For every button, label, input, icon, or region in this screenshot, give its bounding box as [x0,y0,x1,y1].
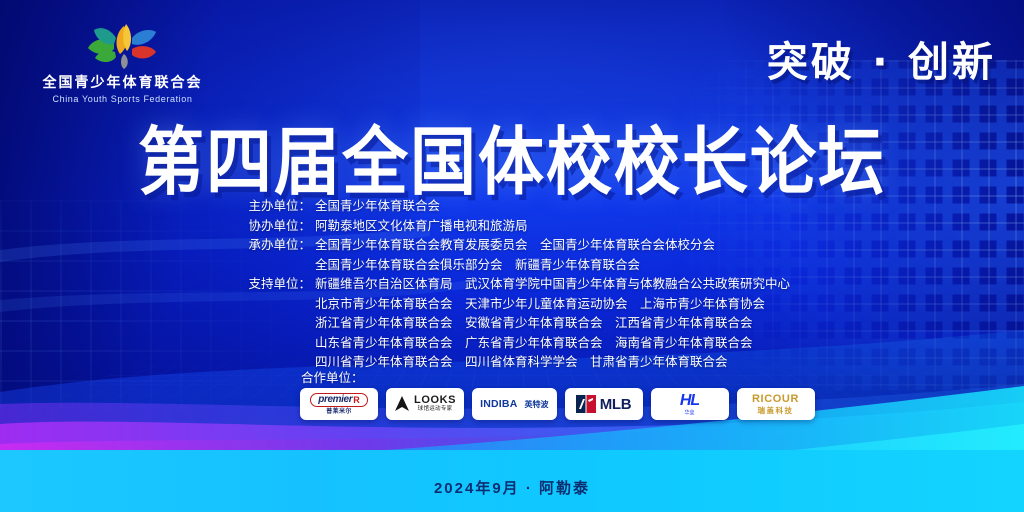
organization-label [239,294,311,314]
organization-value: 全国青少年体育联合会 [311,196,785,216]
organization-row: 主办单位： 全国青少年体育联合会 [0,196,1024,216]
organization-value: 全国青少年体育联合会教育发展委员会 全国青少年体育联合会体校分会 [311,235,785,255]
organization-label: 承办单位： [239,235,311,255]
organization-row: 承办单位： 全国青少年体育联合会教育发展委员会 全国青少年体育联合会体校分会 [0,235,1024,255]
partner-name-looks: LOOKS [414,395,456,406]
page-title: 第四届全国体校校长论坛 [0,102,1024,210]
leaf-cluster-icon [30,22,215,70]
partner-name-ricour: RICOUR [752,394,799,405]
organization-value: 北京市青少年体育联合会 天津市少年儿童体育运动协会 上海市青少年体育协会 [311,294,785,314]
slogan-text: 突破 · 创新 [767,28,996,88]
partner-logo-indiba: INDIBA 英特波 [472,388,556,420]
partner-name-premier: premier [318,395,352,405]
organization-list: 主办单位： 全国青少年体育联合会 协办单位： 阿勒泰地区文化体育广播电视和旅游局… [0,196,1024,372]
partners-label: 合作单位： [301,367,364,386]
organization-value: 全国青少年体育联合会俱乐部分会 新疆青少年体育联合会 [311,255,785,275]
indiba-logo: INDIBA 英特波 [480,398,548,410]
partners-logo-strip: premier R 普莱米尔 LOOKS 球馆运动专家 INDIBA 英特波 [300,388,815,420]
mlb-batter-icon [576,394,596,414]
poster-canvas: 全国青少年体育联合会 China Youth Sports Federation… [0,0,1024,512]
mountain-icon [394,395,410,413]
organization-label [239,333,311,353]
organization-row: 山东省青少年体育联合会 广东省青少年体育联合会 海南省青少年体育联合会 [0,333,1024,353]
organization-value: 山东省青少年体育联合会 广东省青少年体育联合会 海南省青少年体育联合会 [311,333,785,353]
partner-name-cn-ricour: 瑞盖科技 [758,407,794,415]
organization-row: 协办单位： 阿勒泰地区文化体育广播电视和旅游局 [0,216,1024,236]
organization-label: 协办单位： [239,216,311,236]
organization-label: 支持单位： [239,274,311,294]
organization-row: 支持单位： 新疆维吾尔自治区体育局 武汉体育学院中国青少年体育与体教融合公共政策… [0,274,1024,294]
federation-logo: 全国青少年体育联合会 China Youth Sports Federation [30,22,215,104]
organization-row: 四川省青少年体育联合会 四川省体育科学学会 甘肃省青少年体育联合会 [0,352,1024,372]
ricour-logo: RICOUR 瑞盖科技 [752,394,799,415]
partner-name-cn-indiba: 英特波 [525,399,549,410]
partner-logo-looks: LOOKS 球馆运动专家 [386,388,464,420]
organization-row: 浙江省青少年体育联合会 安徽省青少年体育联合会 江西省青少年体育联合会 [0,313,1024,333]
organization-row: 全国青少年体育联合会俱乐部分会 新疆青少年体育联合会 [0,255,1024,275]
organization-value: 新疆维吾尔自治区体育局 武汉体育学院中国青少年体育与体教融合公共政策研究中心 [311,274,785,294]
partner-logo-mlb: MLB [565,388,643,420]
partner-name-mlb: MLB [600,396,632,413]
organization-value: 阿勒泰地区文化体育广播电视和旅游局 [311,216,785,236]
federation-logo-name-cn: 全国青少年体育联合会 [30,72,215,92]
premier-logo: premier R 普莱米尔 [310,393,367,415]
organization-value: 四川省青少年体育联合会 四川省体育科学学会 甘肃省青少年体育联合会 [311,352,785,372]
organization-label [239,313,311,333]
partner-logo-premier: premier R 普莱米尔 [300,388,378,420]
partner-name-cn-premier: 普莱米尔 [326,409,352,415]
organization-label [239,255,311,275]
partner-logo-ricour: RICOUR 瑞盖科技 [737,388,815,420]
premier-oval-icon: premier R [310,393,367,407]
partner-logo-hl: HL 华垒 [651,388,729,420]
hl-logo: HL 华垒 [680,393,699,416]
premier-r-mark: R [353,396,360,405]
organization-row: 北京市青少年体育联合会 天津市少年儿童体育运动协会 上海市青少年体育协会 [0,294,1024,314]
partner-name-indiba: INDIBA [480,398,517,410]
partner-name-hl: HL [680,393,699,409]
footer-date-location: 2024年9月 · 阿勒泰 [0,477,1024,498]
organization-label: 主办单位： [239,196,311,216]
partner-name-cn-hl: 华垒 [684,411,694,416]
organization-value: 浙江省青少年体育联合会 安徽省青少年体育联合会 江西省青少年体育联合会 [311,313,785,333]
looks-logo: LOOKS 球馆运动专家 [394,395,456,413]
partner-name-cn-looks: 球馆运动专家 [418,407,453,413]
mlb-logo: MLB [576,394,632,414]
